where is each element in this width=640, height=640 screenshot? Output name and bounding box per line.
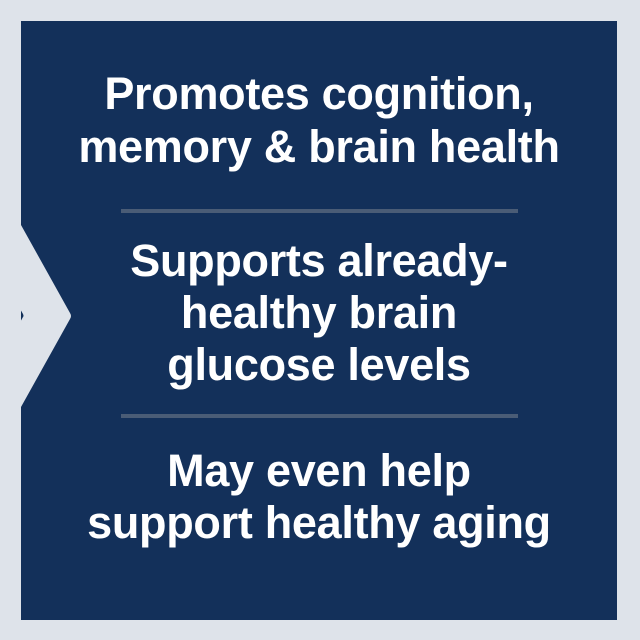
- benefit-divider-2: [121, 414, 518, 418]
- infographic-card: Promotes cognition, memory & brain healt…: [0, 0, 640, 640]
- benefits-list: Promotes cognition, memory & brain healt…: [21, 21, 617, 620]
- benefit-divider-1: [121, 209, 518, 213]
- benefit-item-aging: May even help support healthy aging: [21, 445, 617, 549]
- benefit-item-cognition: Promotes cognition, memory & brain healt…: [21, 68, 617, 172]
- benefit-item-glucose: Supports already- healthy brain glucose …: [21, 235, 617, 392]
